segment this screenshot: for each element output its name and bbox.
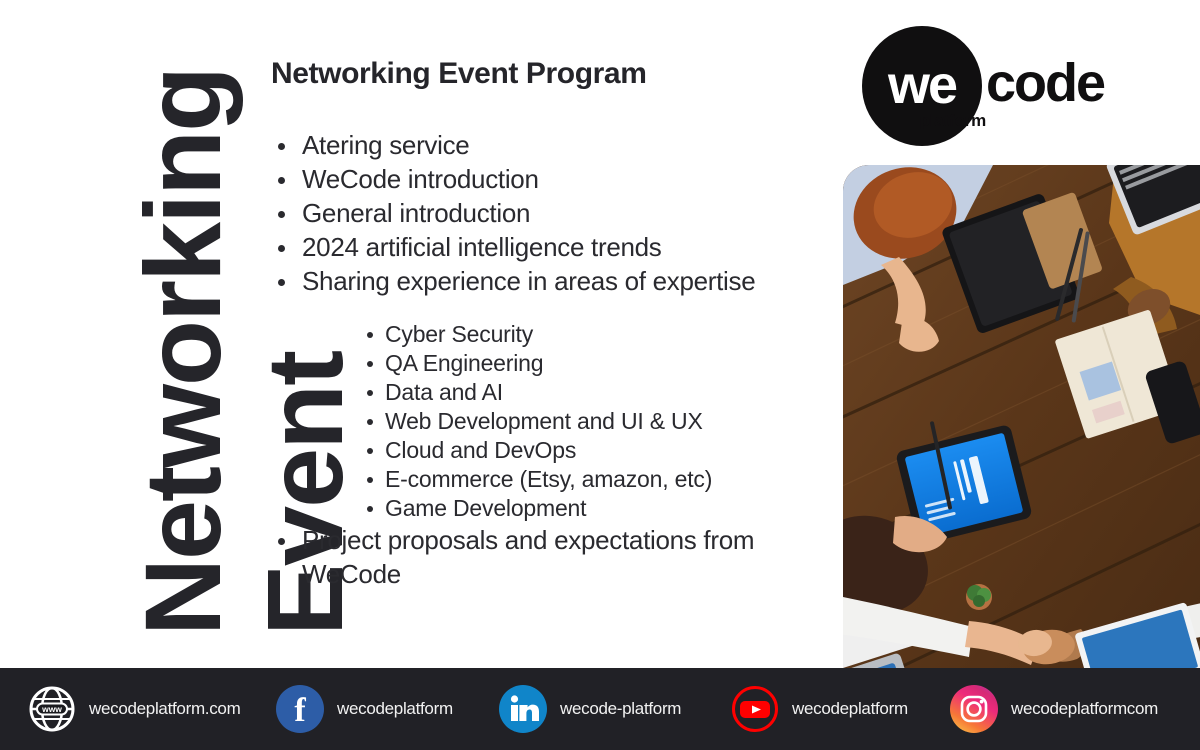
list-item: Web Development and UI & UX <box>364 407 831 436</box>
list-item: 2024 artificial intelligence trends <box>271 230 831 264</box>
social-label-facebook: wecodeplatform <box>337 699 453 719</box>
vertical-title-line-1: Networking <box>132 68 235 636</box>
event-photo-illustration <box>843 165 1200 668</box>
logo-we-text: we <box>888 58 956 112</box>
social-link-instagram[interactable]: wecodeplatformcom <box>950 685 1158 733</box>
facebook-icon[interactable]: f <box>276 685 324 733</box>
list-item: WeCode introduction <box>271 162 831 196</box>
vertical-title: Networking Event <box>0 0 275 668</box>
globe-icon[interactable]: www <box>28 685 76 733</box>
social-label-instagram: wecodeplatformcom <box>1011 699 1158 719</box>
list-item: Data and AI <box>364 378 831 407</box>
logo-code-text: code <box>986 56 1104 110</box>
footer-bar: www wecodeplatform.com f wecodeplatform … <box>0 668 1200 750</box>
event-photo <box>843 165 1200 668</box>
linkedin-icon[interactable] <box>499 685 547 733</box>
social-link-linkedin[interactable]: wecode-platform <box>499 685 681 733</box>
expertise-areas-list: Cyber Security QA Engineering Data and A… <box>271 320 831 523</box>
linkedin-glyph <box>499 685 547 733</box>
list-item: Game Development <box>364 494 831 523</box>
program-main-list: Atering service WeCode introduction Gene… <box>271 128 831 298</box>
poster-canvas: Networking Event Networking Event Progra… <box>0 0 1200 750</box>
youtube-icon[interactable] <box>731 685 779 733</box>
facebook-glyph: f <box>294 694 305 728</box>
program-title: Networking Event Program <box>271 57 831 90</box>
logo-platform-text: platform <box>920 112 986 129</box>
list-item: Project proposals and expectations from … <box>271 523 802 591</box>
list-item: Sharing experience in areas of expertise <box>271 264 831 298</box>
wecode-logo: we code platform <box>862 26 986 146</box>
list-item: QA Engineering <box>364 349 831 378</box>
svg-text:www: www <box>41 704 62 714</box>
list-item: Atering service <box>271 128 831 162</box>
program-section: Networking Event Program Atering service… <box>271 57 831 591</box>
list-item: General introduction <box>271 196 831 230</box>
social-label-website: wecodeplatform.com <box>89 699 240 719</box>
instagram-icon[interactable] <box>950 685 998 733</box>
program-closing-list: Project proposals and expectations from … <box>271 523 831 591</box>
social-link-website[interactable]: www wecodeplatform.com <box>28 685 240 733</box>
social-link-youtube[interactable]: wecodeplatform <box>731 685 908 733</box>
list-item: Cyber Security <box>364 320 831 349</box>
list-item: E-commerce (Etsy, amazon, etc) <box>364 465 831 494</box>
social-label-youtube: wecodeplatform <box>792 699 908 719</box>
social-label-linkedin: wecode-platform <box>560 699 681 719</box>
social-link-facebook[interactable]: f wecodeplatform <box>276 685 453 733</box>
list-item: Cloud and DevOps <box>364 436 831 465</box>
